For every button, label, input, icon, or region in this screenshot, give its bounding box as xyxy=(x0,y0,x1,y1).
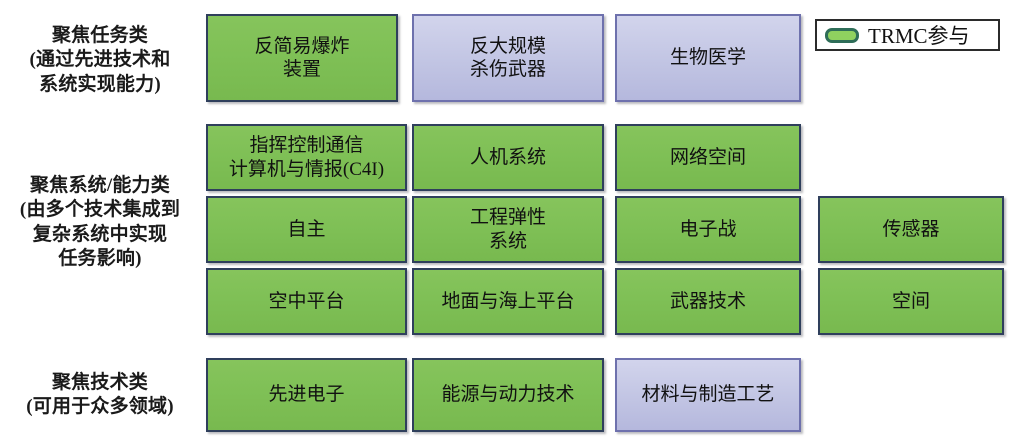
node-box-n17[interactable]: 材料与制造工艺 xyxy=(615,358,801,432)
row-label-mission: 聚焦任务类(通过先进技术和系统实现能力) xyxy=(0,24,200,97)
node-label: 反简易爆炸装置 xyxy=(212,35,392,81)
legend-swatch-icon xyxy=(825,28,859,43)
node-label: 工程弹性系统 xyxy=(418,206,598,252)
row-label-line: 聚焦系统/能力类 xyxy=(0,174,200,198)
node-box-n1[interactable]: 反简易爆炸装置 xyxy=(206,14,398,102)
node-label: 先进电子 xyxy=(212,383,401,406)
node-box-n13[interactable]: 武器技术 xyxy=(615,268,801,335)
node-label: 电子战 xyxy=(621,218,795,241)
row-label-technology: 聚焦技术类(可用于众多领域) xyxy=(0,371,200,420)
node-label: 生物医学 xyxy=(621,46,795,69)
row-label-line: (由多个技术集成到 xyxy=(0,198,200,222)
row-label-line: 系统实现能力) xyxy=(0,73,200,97)
node-box-n15[interactable]: 先进电子 xyxy=(206,358,407,432)
row-label-line: (可用于众多领域) xyxy=(0,395,200,419)
row-label-line: 聚焦技术类 xyxy=(0,371,200,395)
node-box-n11[interactable]: 空中平台 xyxy=(206,268,407,335)
node-box-n5[interactable]: 人机系统 xyxy=(412,124,604,191)
row-label-line: 复杂系统中实现 xyxy=(0,223,200,247)
row-label-line: (通过先进技术和 xyxy=(0,48,200,72)
node-box-n9[interactable]: 电子战 xyxy=(615,196,801,263)
node-box-n7[interactable]: 自主 xyxy=(206,196,407,263)
node-box-n10[interactable]: 传感器 xyxy=(818,196,1004,263)
node-box-n4[interactable]: 指挥控制通信计算机与情报(C4I) xyxy=(206,124,407,191)
legend-trmc: TRMC参与 xyxy=(815,19,1000,51)
row-label-system: 聚焦系统/能力类(由多个技术集成到复杂系统中实现任务影响) xyxy=(0,174,200,271)
node-box-n14[interactable]: 空间 xyxy=(818,268,1004,335)
node-label: 指挥控制通信计算机与情报(C4I) xyxy=(212,134,401,180)
node-box-n3[interactable]: 生物医学 xyxy=(615,14,801,102)
node-label: 自主 xyxy=(212,218,401,241)
legend-label: TRMC参与 xyxy=(868,20,970,50)
row-label-line: 聚焦任务类 xyxy=(0,24,200,48)
node-label: 空中平台 xyxy=(212,290,401,313)
node-label: 传感器 xyxy=(824,218,998,241)
node-label: 地面与海上平台 xyxy=(418,290,598,313)
row-label-line: 任务影响) xyxy=(0,247,200,271)
node-box-n2[interactable]: 反大规模杀伤武器 xyxy=(412,14,604,102)
node-label: 网络空间 xyxy=(621,146,795,169)
node-box-n6[interactable]: 网络空间 xyxy=(615,124,801,191)
node-label: 空间 xyxy=(824,290,998,313)
capability-taxonomy-diagram: 聚焦任务类(通过先进技术和系统实现能力)聚焦系统/能力类(由多个技术集成到复杂系… xyxy=(0,0,1013,447)
node-label: 人机系统 xyxy=(418,146,598,169)
node-label: 反大规模杀伤武器 xyxy=(418,35,598,81)
node-label: 材料与制造工艺 xyxy=(621,383,795,406)
node-label: 武器技术 xyxy=(621,290,795,313)
node-label: 能源与动力技术 xyxy=(418,383,598,406)
node-box-n12[interactable]: 地面与海上平台 xyxy=(412,268,604,335)
node-box-n8[interactable]: 工程弹性系统 xyxy=(412,196,604,263)
node-box-n16[interactable]: 能源与动力技术 xyxy=(412,358,604,432)
